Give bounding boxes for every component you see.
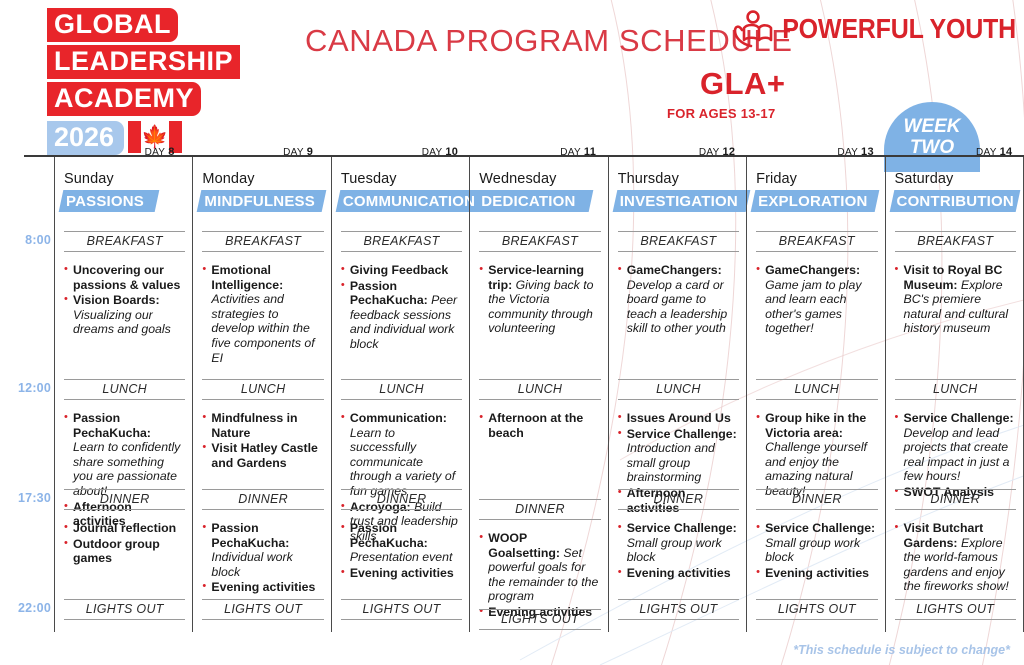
meal-lunch: LUNCH: [895, 379, 1016, 400]
meal-lunch: LUNCH: [618, 379, 739, 400]
day-name: Wednesday: [479, 171, 600, 188]
day-column-friday: FridayEXPLORATIONBREAKFASTGameChangers: …: [746, 157, 884, 632]
day-column-sunday: SundayPASSIONSBREAKFASTUncovering our pa…: [54, 157, 192, 632]
schedule-item: Issues Around Us: [618, 411, 739, 426]
day-name: Friday: [756, 171, 877, 188]
schedule-item: Passion PechaKucha: Learn to confidently…: [64, 411, 185, 499]
time-mark-12-00: 12:00: [18, 381, 51, 395]
day-number-3: DAY 10: [422, 146, 458, 158]
schedule-item: Evening activities: [341, 566, 462, 581]
afternoon-items: Afternoon at the beach: [479, 411, 600, 441]
age-range: FOR AGES 13-17: [667, 106, 775, 121]
day-theme-banner: INVESTIGATION: [609, 190, 739, 214]
evening-items: WOOP Goalsetting: Set powerful goals for…: [479, 531, 600, 621]
schedule-item: Emotional Intelligence: Activities and s…: [202, 263, 323, 365]
day-theme-banner: MINDFULNESS: [193, 190, 323, 214]
schedule-item: Passion PechaKucha: Presentation event: [341, 521, 462, 565]
schedule-item: Afternoon at the beach: [479, 411, 600, 440]
day-number-7: DAY 14: [976, 146, 1012, 158]
afternoon-items: Mindfulness in NatureVisit Hatley Castle…: [202, 411, 323, 471]
day-theme-banner: EXPLORATION: [747, 190, 877, 214]
schedule-item: Visit Butchart Gardens: Explore the worl…: [895, 521, 1016, 594]
day-theme-label: INVESTIGATION: [620, 191, 738, 212]
logo-year: 2026: [47, 121, 124, 155]
meal-dinner: DINNER: [202, 489, 323, 510]
footer-disclaimer: *This schedule is subject to change*: [793, 643, 1010, 657]
logo-line-leadership: LEADERSHIP: [47, 45, 240, 79]
schedule-item: Vision Boards: Visualizing our dreams an…: [64, 293, 185, 337]
program-name: GLA+: [700, 66, 786, 102]
meal-lights-out: LIGHTS OUT: [64, 599, 185, 620]
evening-items: Journal reflectionOutdoor group games: [64, 521, 185, 567]
meal-dinner: DINNER: [895, 489, 1016, 510]
evening-items: Passion PechaKucha: Presentation eventEv…: [341, 521, 462, 581]
meal-lunch: LUNCH: [479, 379, 600, 400]
evening-items: Passion PechaKucha: Individual work bloc…: [202, 521, 323, 596]
meal-lunch: LUNCH: [64, 379, 185, 400]
schedule-item: Service Challenge: Small group work bloc…: [756, 521, 877, 565]
page-title: CANADA PROGRAM SCHEDULE: [305, 23, 793, 59]
schedule-item: Giving Feedback: [341, 263, 462, 278]
gla-logo: GLOBAL LEADERSHIP ACADEMY 2026 🍁: [47, 8, 247, 155]
time-mark-22-00: 22:00: [18, 601, 51, 615]
day-number-5: DAY 12: [699, 146, 735, 158]
meal-lights-out: LIGHTS OUT: [895, 599, 1016, 620]
day-column-tuesday: TuesdayCOMMUNICATIONBREAKFASTGiving Feed…: [331, 157, 469, 632]
meal-lights-out: LIGHTS OUT: [618, 599, 739, 620]
evening-items: Service Challenge: Small group work bloc…: [756, 521, 877, 581]
evening-items: Visit Butchart Gardens: Explore the worl…: [895, 521, 1016, 595]
day-theme-label: EXPLORATION: [758, 191, 867, 212]
day-theme-label: DEDICATION: [481, 191, 575, 212]
day-theme-banner: CONTRIBUTION: [886, 190, 1016, 214]
morning-items: Uncovering our passions & valuesVision B…: [64, 263, 185, 338]
brand-name: POWERFUL YOUTH: [782, 13, 1016, 45]
meal-dinner: DINNER: [341, 489, 462, 510]
schedule-item: Mindfulness in Nature: [202, 411, 323, 440]
day-name: Thursday: [618, 171, 739, 188]
meal-lunch: LUNCH: [341, 379, 462, 400]
day-column-thursday: ThursdayINVESTIGATIONBREAKFASTGameChange…: [608, 157, 746, 632]
schedule-item: WOOP Goalsetting: Set powerful goals for…: [479, 531, 600, 604]
time-axis: 8:0012:0017:3022:00: [24, 157, 54, 632]
day-number-4: DAY 11: [560, 146, 596, 158]
meal-lights-out: LIGHTS OUT: [341, 599, 462, 620]
week-badge-line1: WEEK: [904, 116, 961, 137]
day-name: Monday: [202, 171, 323, 188]
day-theme-label: PASSIONS: [66, 191, 144, 212]
afternoon-items: Group hike in the Victoria area: Challen…: [756, 411, 877, 500]
schedule-item: Visit to Royal BC Museum: Explore BC's p…: [895, 263, 1016, 336]
logo-line-academy: ACADEMY: [47, 82, 201, 116]
day-name: Tuesday: [341, 171, 462, 188]
powerful-youth-logo: POWERFUL YOUTH: [732, 10, 1016, 48]
day-column-saturday: SaturdayCONTRIBUTIONBREAKFASTVisit to Ro…: [885, 157, 1024, 632]
meal-breakfast: BREAKFAST: [756, 231, 877, 252]
schedule-item: Visit Hatley Castle and Gardens: [202, 441, 323, 470]
schedule-item: Evening activities: [618, 566, 739, 581]
morning-items: GameChangers: Game jam to play and learn…: [756, 263, 877, 337]
meal-breakfast: BREAKFAST: [479, 231, 600, 252]
schedule-item: Service Challenge: Introduction and smal…: [618, 427, 739, 485]
meal-breakfast: BREAKFAST: [64, 231, 185, 252]
schedule-item: Service Challenge: Develop and lead proj…: [895, 411, 1016, 484]
meal-breakfast: BREAKFAST: [618, 231, 739, 252]
meal-dinner: DINNER: [479, 499, 600, 520]
meal-lunch: LUNCH: [756, 379, 877, 400]
day-theme-label: CONTRIBUTION: [897, 191, 1014, 212]
schedule-item: Communication: Learn to successfully com…: [341, 411, 462, 499]
page-header: GLOBAL LEADERSHIP ACADEMY 2026 🍁 CANADA …: [0, 0, 1024, 150]
day-number-6: DAY 13: [837, 146, 873, 158]
meal-dinner: DINNER: [618, 489, 739, 510]
schedule-item: GameChangers: Develop a card or board ga…: [618, 263, 739, 336]
schedule-grid: 8:0012:0017:3022:00 SundayPASSIONSBREAKF…: [24, 157, 1024, 632]
person-reading-book-icon: [732, 10, 774, 48]
morning-items: Giving FeedbackPassion PechaKucha: Peer …: [341, 263, 462, 353]
evening-items: Service Challenge: Small group work bloc…: [618, 521, 739, 581]
meal-lunch: LUNCH: [202, 379, 323, 400]
logo-line-global: GLOBAL: [47, 8, 178, 42]
schedule-item: Service-learning trip: Giving back to th…: [479, 263, 600, 336]
morning-items: Service-learning trip: Giving back to th…: [479, 263, 600, 337]
afternoon-items: Passion PechaKucha: Learn to confidently…: [64, 411, 185, 530]
time-mark-17-30: 17:30: [18, 491, 51, 505]
day-column-wednesday: WednesdayDEDICATIONBREAKFASTService-lear…: [469, 157, 607, 632]
day-name: Saturday: [895, 171, 1016, 188]
schedule-item: Journal reflection: [64, 521, 185, 536]
day-number-2: DAY 9: [283, 146, 313, 158]
schedule-item: Outdoor group games: [64, 537, 185, 566]
morning-items: Visit to Royal BC Museum: Explore BC's p…: [895, 263, 1016, 337]
schedule-item: Passion PechaKucha: Individual work bloc…: [202, 521, 323, 579]
morning-items: GameChangers: Develop a card or board ga…: [618, 263, 739, 337]
morning-items: Emotional Intelligence: Activities and s…: [202, 263, 323, 366]
day-theme-banner: DEDICATION: [470, 190, 600, 214]
schedule-item: Group hike in the Victoria area: Challen…: [756, 411, 877, 499]
day-theme-label: MINDFULNESS: [204, 191, 315, 212]
schedule-item: Service Challenge: Small group work bloc…: [618, 521, 739, 565]
meal-dinner: DINNER: [64, 489, 185, 510]
day-theme-banner: PASSIONS: [55, 190, 185, 214]
meal-lights-out: LIGHTS OUT: [202, 599, 323, 620]
schedule-item: Uncovering our passions & values: [64, 263, 185, 292]
meal-breakfast: BREAKFAST: [341, 231, 462, 252]
day-number-1: DAY 8: [145, 146, 175, 158]
meal-breakfast: BREAKFAST: [895, 231, 1016, 252]
schedule-item: Passion PechaKucha: Peer feedback sessio…: [341, 279, 462, 352]
schedule-item: Evening activities: [202, 580, 323, 595]
afternoon-items: Service Challenge: Develop and lead proj…: [895, 411, 1016, 501]
meal-breakfast: BREAKFAST: [202, 231, 323, 252]
schedule-item: Evening activities: [756, 566, 877, 581]
meal-lights-out: LIGHTS OUT: [479, 609, 600, 630]
day-theme-banner: COMMUNICATION: [332, 190, 462, 214]
day-theme-label: COMMUNICATION: [343, 191, 475, 212]
meal-dinner: DINNER: [756, 489, 877, 510]
time-mark-8-00: 8:00: [25, 233, 51, 247]
day-column-monday: MondayMINDFULNESSBREAKFASTEmotional Inte…: [192, 157, 330, 632]
schedule-item: GameChangers: Game jam to play and learn…: [756, 263, 877, 336]
day-name: Sunday: [64, 171, 185, 188]
meal-lights-out: LIGHTS OUT: [756, 599, 877, 620]
